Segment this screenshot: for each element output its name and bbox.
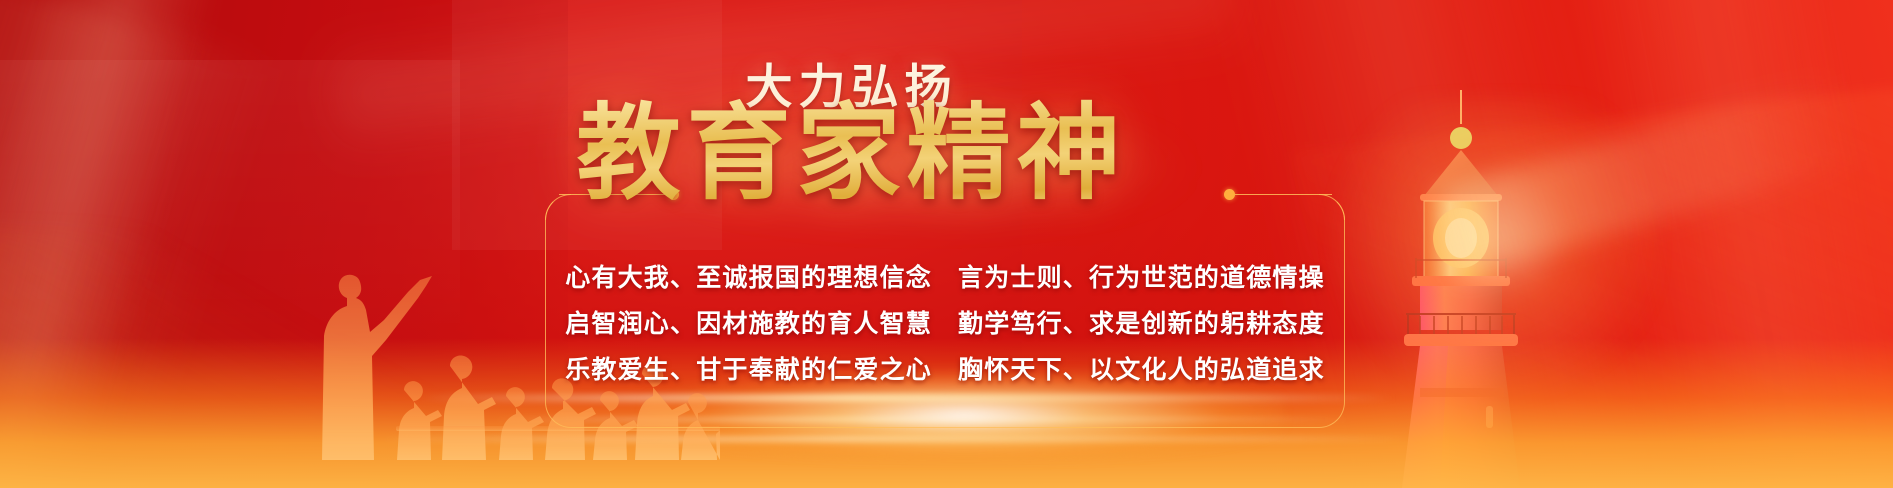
body-cell-right: 胸怀天下、以文化人的弘道追求 [958, 350, 1325, 386]
body-cell-left: 启智润心、因材施教的育人智慧 [565, 304, 932, 340]
banner-body-lines: 心有大我、至诚报国的理想信念 言为士则、行为世范的道德情操 启智润心、因材施教的… [545, 258, 1345, 396]
banner-root: 大力弘扬 教育家精神 心有大我、至诚报国的理想信念 言为士则、行为世范的道德情操… [0, 0, 1893, 488]
body-row: 心有大我、至诚报国的理想信念 言为士则、行为世范的道德情操 [545, 258, 1345, 294]
body-cell-left: 乐教爱生、甘于奉献的仁爱之心 [565, 350, 932, 386]
body-cell-left: 心有大我、至诚报国的理想信念 [565, 258, 932, 294]
banner-headline: 教育家精神 [0, 98, 1893, 210]
body-row: 启智润心、因材施教的育人智慧 勤学笃行、求是创新的躬耕态度 [545, 304, 1345, 340]
body-cell-right: 勤学笃行、求是创新的躬耕态度 [958, 304, 1325, 340]
body-row: 乐教爱生、甘于奉献的仁爱之心 胸怀天下、以文化人的弘道追求 [545, 350, 1345, 386]
body-cell-right: 言为士则、行为世范的道德情操 [958, 258, 1325, 294]
